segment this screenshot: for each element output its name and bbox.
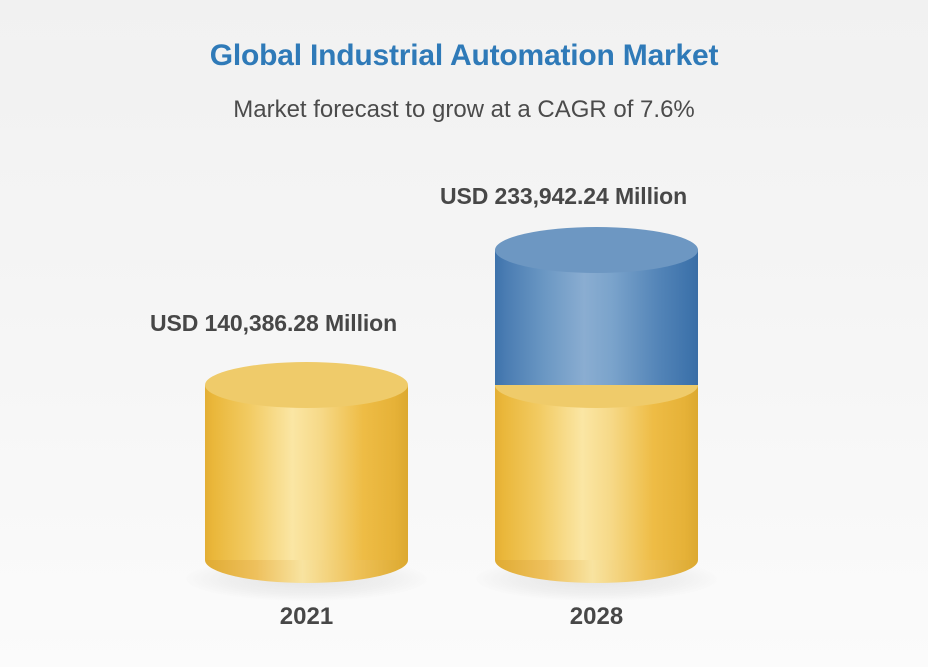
chart-title: Global Industrial Automation Market bbox=[0, 39, 928, 73]
chart-subtitle: Market forecast to grow at a CAGR of 7.6… bbox=[0, 96, 928, 124]
cylinder-body bbox=[205, 385, 408, 560]
cylinder-top-cap bbox=[495, 227, 698, 273]
cylinder-top-cap bbox=[205, 362, 408, 408]
bar-segment-2021-base bbox=[205, 362, 408, 583]
category-label-2028: 2028 bbox=[495, 603, 698, 631]
chart-container: Global Industrial Automation Market Mark… bbox=[0, 0, 928, 667]
value-label-2028: USD 233,942.24 Million bbox=[440, 183, 687, 210]
category-label-2021: 2021 bbox=[205, 603, 408, 631]
bar-cylinder-2021 bbox=[205, 362, 408, 583]
cylinder-lower-rim bbox=[495, 362, 698, 408]
value-label-2021: USD 140,386.28 Million bbox=[150, 310, 397, 337]
bar-segment-2028-growth bbox=[495, 227, 698, 408]
cylinder-body bbox=[495, 385, 698, 560]
bar-cylinder-2028 bbox=[495, 227, 698, 583]
